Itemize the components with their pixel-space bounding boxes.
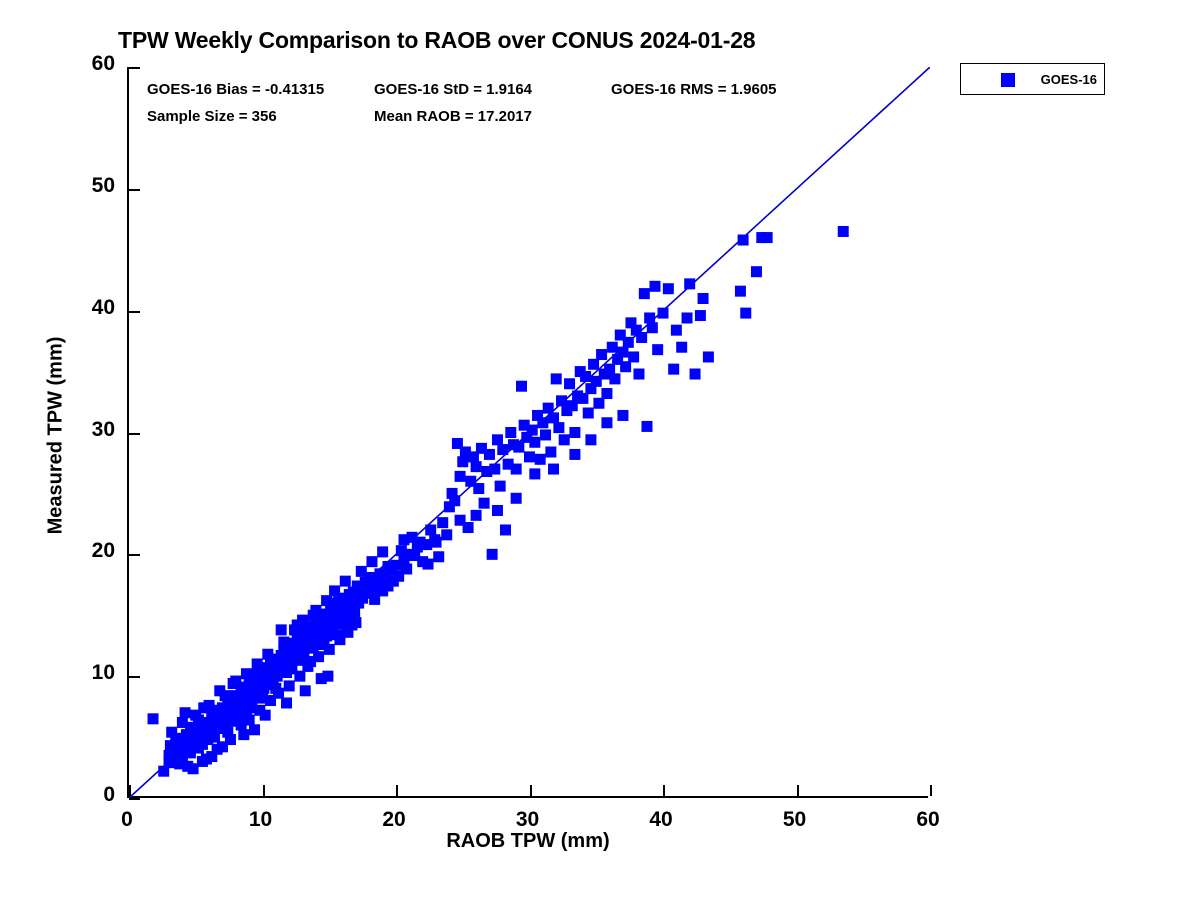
data-point (340, 576, 351, 587)
data-point (551, 373, 562, 384)
data-point (690, 369, 701, 380)
data-point (423, 559, 434, 570)
plot-area (127, 67, 928, 798)
data-point (567, 400, 578, 411)
data-point (180, 707, 191, 718)
data-point (556, 395, 567, 406)
data-point (228, 678, 239, 689)
data-point (455, 471, 466, 482)
data-point (433, 551, 444, 562)
data-point (596, 349, 607, 360)
x-tick-label-20: 20 (364, 808, 424, 832)
data-point (529, 468, 540, 479)
data-point (188, 763, 199, 774)
data-point (548, 464, 559, 475)
data-point (617, 410, 628, 421)
data-point (593, 398, 604, 409)
data-point (548, 412, 559, 423)
legend: GOES-16 (960, 63, 1105, 95)
data-point (487, 549, 498, 560)
data-point (617, 347, 628, 358)
data-point (484, 449, 495, 460)
y-tick-60 (129, 67, 140, 69)
data-point (569, 449, 580, 460)
data-point (511, 464, 522, 475)
data-point (500, 524, 511, 535)
data-point (479, 498, 490, 509)
data-point (762, 232, 773, 243)
data-point (580, 371, 591, 382)
y-tick-40 (129, 311, 140, 313)
data-point (356, 566, 367, 577)
data-point (527, 425, 538, 436)
data-point (495, 481, 506, 492)
data-point (658, 308, 669, 319)
data-point (193, 715, 204, 726)
data-point (553, 422, 564, 433)
y-tick-30 (129, 433, 140, 435)
x-tick-40 (663, 785, 665, 796)
x-tick-30 (530, 785, 532, 796)
data-point (588, 359, 599, 370)
data-point (633, 369, 644, 380)
page-title: TPW Weekly Comparison to RAOB over CONUS… (118, 27, 755, 54)
data-point (212, 744, 223, 755)
data-point (585, 434, 596, 445)
y-tick-label-60: 60 (55, 52, 115, 76)
x-tick-label-60: 60 (898, 808, 958, 832)
chart-figure: TPW Weekly Comparison to RAOB over CONUS… (0, 0, 1200, 900)
data-point (174, 758, 185, 769)
data-point (601, 417, 612, 428)
data-point (649, 281, 660, 292)
data-point (682, 312, 693, 323)
y-tick-label-0: 0 (55, 783, 115, 807)
y-tick-20 (129, 554, 140, 556)
data-point (425, 524, 436, 535)
data-point (601, 388, 612, 399)
data-point (431, 537, 442, 548)
data-point (529, 437, 540, 448)
x-tick-20 (396, 785, 398, 796)
data-point (148, 713, 159, 724)
y-tick-label-40: 40 (55, 296, 115, 320)
data-point (609, 373, 620, 384)
data-point (647, 322, 658, 333)
data-point (513, 442, 524, 453)
data-point (262, 649, 273, 660)
data-point (583, 408, 594, 419)
data-point (166, 727, 177, 738)
data-point (564, 378, 575, 389)
data-point (441, 529, 452, 540)
data-point (348, 587, 359, 598)
data-point (471, 461, 482, 472)
data-point (209, 705, 220, 716)
data-point (241, 668, 252, 679)
data-point (281, 697, 292, 708)
data-point (623, 337, 634, 348)
data-point (316, 673, 327, 684)
data-point (668, 364, 679, 375)
y-tick-50 (129, 189, 140, 191)
data-point (639, 288, 650, 299)
y-tick-label-10: 10 (55, 661, 115, 685)
data-point (284, 680, 295, 691)
scatter-canvas (129, 67, 930, 798)
data-point (492, 505, 503, 516)
y-tick-label-20: 20 (55, 539, 115, 563)
x-tick-label-10: 10 (231, 808, 291, 832)
data-point (455, 515, 466, 526)
data-point (652, 344, 663, 355)
data-point (382, 561, 393, 572)
data-point (838, 226, 849, 237)
data-point (286, 663, 297, 674)
series-goes-16 (148, 226, 849, 777)
data-point (473, 483, 484, 494)
data-point (738, 235, 749, 246)
y-tick-label-50: 50 (55, 174, 115, 198)
data-point (326, 598, 337, 609)
data-point (238, 729, 249, 740)
data-point (489, 464, 500, 475)
data-point (260, 710, 271, 721)
data-point (244, 715, 255, 726)
data-point (628, 351, 639, 362)
data-point (604, 364, 615, 375)
y-tick-0 (129, 798, 140, 800)
data-point (252, 658, 263, 669)
data-point (740, 308, 751, 319)
data-point (257, 693, 268, 704)
x-tick-label-30: 30 (498, 808, 558, 832)
data-point (636, 332, 647, 343)
x-tick-label-40: 40 (631, 808, 691, 832)
data-point (735, 286, 746, 297)
data-point (471, 510, 482, 521)
data-point (492, 434, 503, 445)
data-point (369, 573, 380, 584)
data-point (703, 351, 714, 362)
data-point (751, 266, 762, 277)
data-point (437, 517, 448, 528)
data-point (671, 325, 682, 336)
data-point (516, 381, 527, 392)
data-point (318, 639, 329, 650)
data-point (676, 342, 687, 353)
data-point (201, 754, 212, 765)
x-tick-50 (797, 785, 799, 796)
data-point (270, 683, 281, 694)
data-point (246, 702, 257, 713)
data-point (276, 624, 287, 635)
data-point (377, 546, 388, 557)
y-tick-label-30: 30 (55, 418, 115, 442)
data-point (537, 417, 548, 428)
data-point (505, 427, 516, 438)
data-point (332, 629, 343, 640)
data-point (559, 434, 570, 445)
data-point (511, 493, 522, 504)
x-axis-label: RAOB TPW (mm) (0, 830, 1056, 853)
data-point (233, 712, 244, 723)
data-point (305, 656, 316, 667)
data-point (569, 427, 580, 438)
x-tick-0 (129, 785, 131, 796)
x-tick-10 (263, 785, 265, 796)
data-point (449, 495, 460, 506)
data-point (308, 610, 319, 621)
y-tick-10 (129, 676, 140, 678)
data-point (698, 293, 709, 304)
data-point (292, 619, 303, 630)
data-point (214, 685, 225, 696)
x-tick-60 (930, 785, 932, 796)
data-point (366, 556, 377, 567)
data-point (695, 310, 706, 321)
data-point (684, 278, 695, 289)
data-point (198, 702, 209, 713)
data-point (249, 724, 260, 735)
data-point (401, 563, 412, 574)
data-point (607, 342, 618, 353)
data-point (543, 403, 554, 414)
data-point (545, 446, 556, 457)
data-point (457, 456, 468, 467)
data-point (399, 534, 410, 545)
data-point (641, 421, 652, 432)
x-tick-label-0: 0 (97, 808, 157, 832)
x-tick-label-50: 50 (765, 808, 825, 832)
data-point (329, 585, 340, 596)
data-point (663, 283, 674, 294)
data-point (535, 454, 546, 465)
data-point (540, 429, 551, 440)
data-point (300, 685, 311, 696)
data-point (222, 727, 233, 738)
data-point (497, 444, 508, 455)
data-point (342, 627, 353, 638)
data-point (644, 312, 655, 323)
data-point (620, 361, 631, 372)
data-point (164, 756, 175, 767)
data-point (278, 637, 289, 648)
data-point (524, 451, 535, 462)
data-point (577, 393, 588, 404)
legend-label-goes16: GOES-16 (961, 72, 1097, 87)
data-point (345, 612, 356, 623)
